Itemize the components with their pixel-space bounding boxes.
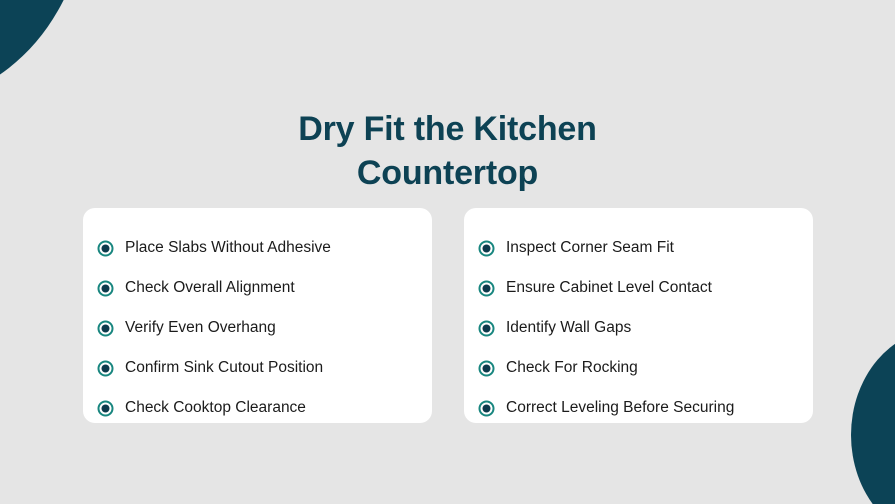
bullet-target-icon [478, 360, 495, 377]
bullet-target-icon [478, 280, 495, 297]
left-card: Place Slabs Without Adhesive Check Overa… [83, 208, 432, 423]
bullet-target-icon [97, 360, 114, 377]
page-title: Dry Fit the Kitchen Countertop [0, 107, 895, 195]
page-title-line-1: Dry Fit the Kitchen [0, 107, 895, 151]
list-item[interactable]: Inspect Corner Seam Fit [478, 228, 799, 268]
bullet-target-icon [478, 240, 495, 257]
list-item-label: Correct Leveling Before Securing [506, 399, 734, 417]
list-item-label: Verify Even Overhang [125, 319, 276, 337]
left-card-list: Place Slabs Without Adhesive Check Overa… [97, 228, 418, 428]
list-item-label: Confirm Sink Cutout Position [125, 359, 323, 377]
list-item[interactable]: Correct Leveling Before Securing [478, 388, 799, 428]
page-title-line-2: Countertop [0, 151, 895, 195]
bullet-target-icon [97, 240, 114, 257]
list-item-label: Check For Rocking [506, 359, 638, 377]
list-item[interactable]: Check For Rocking [478, 348, 799, 388]
top-left-quarter-circle-decoration [0, 0, 88, 103]
right-card-list: Inspect Corner Seam Fit Ensure Cabinet L… [478, 228, 799, 428]
list-item[interactable]: Place Slabs Without Adhesive [97, 228, 418, 268]
bullet-target-icon [478, 320, 495, 337]
list-item-label: Inspect Corner Seam Fit [506, 239, 674, 257]
list-item[interactable]: Verify Even Overhang [97, 308, 418, 348]
list-item[interactable]: Identify Wall Gaps [478, 308, 799, 348]
list-item[interactable]: Check Overall Alignment [97, 268, 418, 308]
bullet-target-icon [97, 280, 114, 297]
list-item-label: Check Overall Alignment [125, 279, 295, 297]
list-item-label: Check Cooktop Clearance [125, 399, 306, 417]
right-card: Inspect Corner Seam Fit Ensure Cabinet L… [464, 208, 813, 423]
bullet-target-icon [97, 320, 114, 337]
bullet-target-icon [478, 400, 495, 417]
list-item[interactable]: Ensure Cabinet Level Contact [478, 268, 799, 308]
list-item[interactable]: Check Cooktop Clearance [97, 388, 418, 428]
list-item-label: Identify Wall Gaps [506, 319, 631, 337]
bottom-right-circle-decoration [851, 329, 895, 504]
list-item-label: Ensure Cabinet Level Contact [506, 279, 712, 297]
slide-canvas: Dry Fit the Kitchen Countertop Place Sla… [0, 0, 895, 504]
list-item[interactable]: Confirm Sink Cutout Position [97, 348, 418, 388]
bullet-target-icon [97, 400, 114, 417]
list-item-label: Place Slabs Without Adhesive [125, 239, 331, 257]
